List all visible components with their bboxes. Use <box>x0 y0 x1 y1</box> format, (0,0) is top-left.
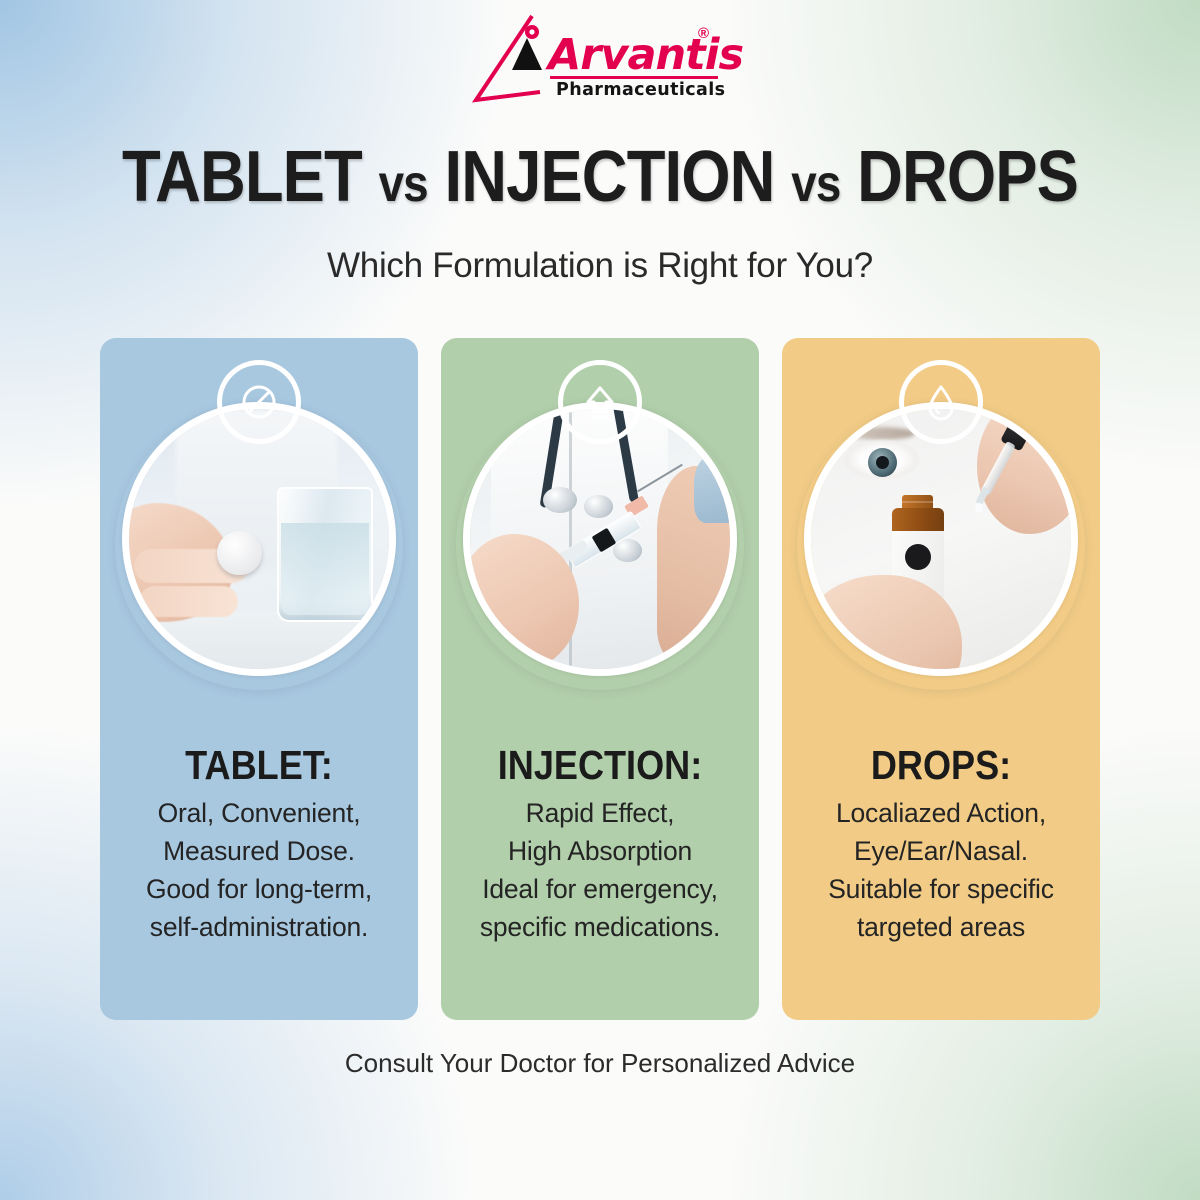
card-line: Oral, Convenient, <box>108 794 410 832</box>
registered-mark: ® <box>698 25 709 42</box>
card-line: Measured Dose. <box>108 832 410 870</box>
title-part-injection: INJECTION <box>444 137 774 217</box>
logo-underline <box>550 76 718 79</box>
brand-logo: Arvantis ® Pharmaceuticals <box>0 14 1200 106</box>
card-line: self-administration. <box>108 908 410 946</box>
comparison-cards: TABLET: Oral, Convenient, Measured Dose.… <box>100 338 1100 1020</box>
brand-tagline: Pharmaceuticals <box>556 80 725 100</box>
pill-tablet-icon <box>217 360 301 444</box>
card-body-drops: Localiazed Action, Eye/Ear/Nasal. Suitab… <box>790 794 1092 946</box>
card-drops: DROPS: Localiazed Action, Eye/Ear/Nasal.… <box>782 338 1100 1020</box>
brand-name: Arvantis <box>548 30 743 80</box>
up-arrow-icon <box>558 360 642 444</box>
card-line: targeted areas <box>790 908 1092 946</box>
card-line: Good for long-term, <box>108 870 410 908</box>
infographic-poster: Arvantis ® Pharmaceuticals TABLET vs INJ… <box>0 0 1200 1200</box>
title-vs-2: vs <box>791 155 840 213</box>
card-heading-tablet: TABLET: <box>119 742 399 789</box>
card-line: Localiazed Action, <box>790 794 1092 832</box>
title-part-drops: DROPS <box>857 137 1078 217</box>
title-vs-1: vs <box>379 155 428 213</box>
card-line: High Absorption <box>449 832 751 870</box>
card-line: Rapid Effect, <box>449 794 751 832</box>
water-droplet-icon <box>899 360 983 444</box>
page-title: TABLET vs INJECTION vs DROPS <box>72 136 1128 218</box>
card-body-injection: Rapid Effect, High Absorption Ideal for … <box>449 794 751 946</box>
footer-note: Consult Your Doctor for Personalized Adv… <box>0 1048 1200 1079</box>
card-heading-drops: DROPS: <box>801 742 1081 789</box>
card-line: Suitable for specific <box>790 870 1092 908</box>
title-part-tablet: TABLET <box>122 137 362 217</box>
card-line: Eye/Ear/Nasal. <box>790 832 1092 870</box>
card-line: Ideal for emergency, <box>449 870 751 908</box>
card-injection: INJECTION: Rapid Effect, High Absorption… <box>441 338 759 1020</box>
card-tablet: TABLET: Oral, Convenient, Measured Dose.… <box>100 338 418 1020</box>
card-heading-injection: INJECTION: <box>460 742 740 789</box>
card-line: specific medications. <box>449 908 751 946</box>
page-subtitle: Which Formulation is Right for You? <box>0 246 1200 286</box>
card-body-tablet: Oral, Convenient, Measured Dose. Good fo… <box>108 794 410 946</box>
